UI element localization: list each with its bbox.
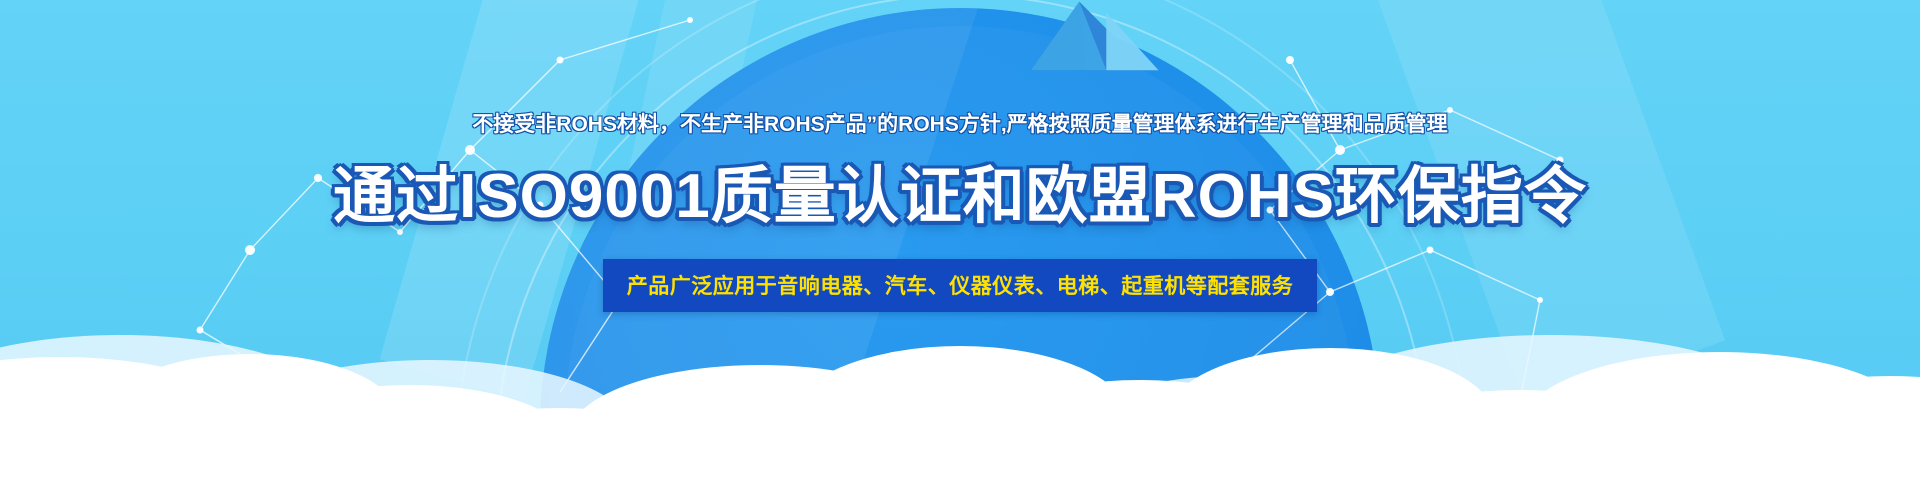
banner-ribbon-tagline: 产品广泛应用于音响电器、汽车、仪器仪表、电梯、起重机等配套服务 bbox=[603, 259, 1318, 312]
promo-banner: 不接受非ROHS材料，不生产非ROHS产品”的ROHS方针,严格按照质量管理体系… bbox=[0, 0, 1920, 480]
banner-subtitle: 不接受非ROHS材料，不生产非ROHS产品”的ROHS方针,严格按照质量管理体系… bbox=[472, 108, 1447, 138]
banner-copy: 不接受非ROHS材料，不生产非ROHS产品”的ROHS方针,严格按照质量管理体系… bbox=[0, 0, 1920, 480]
banner-headline: 通过ISO9001质量认证和欧盟ROHS环保指令 bbox=[333, 164, 1587, 229]
